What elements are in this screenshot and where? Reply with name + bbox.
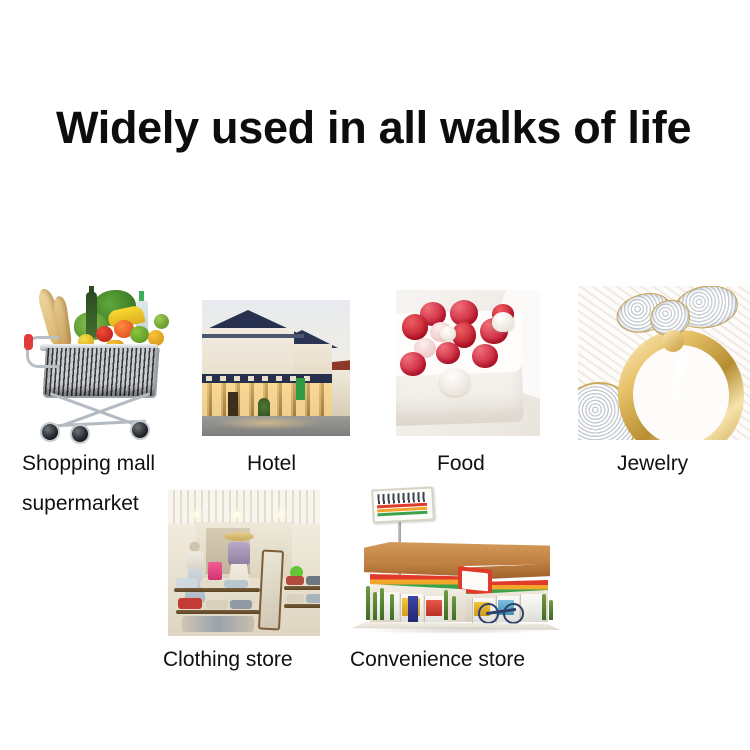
caption-convenience-store: Convenience store	[350, 640, 525, 680]
cart-wheel	[70, 424, 90, 444]
strawberry-icon	[402, 314, 428, 340]
folded-clothes	[206, 600, 228, 609]
roof-edge	[202, 334, 304, 338]
image-hotel	[202, 300, 350, 436]
broccoli-icon	[154, 314, 169, 329]
caption-clothing-store: Clothing store	[163, 640, 293, 680]
pink-promo-sign	[208, 562, 222, 580]
caption-food: Food	[437, 444, 485, 484]
raspberry-icon	[436, 342, 460, 364]
folded-clothes	[230, 600, 252, 609]
red-garment	[178, 598, 202, 609]
folded-clothes	[176, 578, 198, 588]
green-apple-icon	[130, 326, 149, 343]
bow-gold-knot	[662, 330, 684, 352]
page-title: Widely used in all walks of life	[56, 104, 716, 151]
shoe-display	[286, 594, 304, 603]
display-table	[176, 610, 260, 614]
display-shelf	[284, 586, 320, 590]
plant	[390, 594, 394, 620]
ground-shadow	[364, 627, 550, 634]
ceiling-light	[194, 512, 199, 517]
green-street-sign	[296, 378, 305, 400]
shoe-display	[306, 594, 320, 603]
image-shopping-mall-supermarket	[18, 286, 178, 444]
light-reflection	[212, 416, 322, 430]
interior-shelf	[426, 600, 442, 616]
cream-rosette	[492, 312, 514, 332]
image-jewelry	[578, 286, 750, 440]
cream-dollop	[440, 326, 456, 341]
plant	[366, 586, 370, 620]
ceiling-light	[234, 512, 239, 517]
cream-rosette	[440, 368, 470, 396]
plant	[380, 588, 384, 620]
cart-wheel	[130, 420, 150, 440]
folded-clothes	[224, 580, 248, 588]
cart-wheel	[40, 422, 60, 442]
plant	[444, 590, 448, 620]
bicycle-icon	[478, 602, 524, 624]
mannequin-with-hat	[226, 530, 252, 606]
plant	[373, 592, 377, 620]
straw-hat-icon	[224, 532, 254, 541]
image-food	[396, 290, 540, 436]
mannequin	[185, 542, 206, 603]
plant	[542, 594, 546, 620]
folded-clothes	[200, 580, 220, 588]
image-clothing-store	[168, 490, 320, 636]
cart-basket	[42, 348, 159, 398]
cart-handle-grip	[24, 334, 33, 350]
display-table	[174, 588, 260, 592]
blue-storefront-unit	[408, 596, 418, 622]
shoe-display	[286, 576, 304, 585]
lower-shelf-goods	[182, 616, 254, 632]
store-pole-sign	[371, 486, 435, 523]
image-convenience-store	[346, 484, 566, 636]
plant	[452, 596, 456, 620]
plant	[549, 600, 553, 620]
standing-mirror	[258, 549, 284, 630]
display-shelf	[284, 604, 320, 608]
facade-cornice	[202, 374, 332, 383]
marketing-slide: Widely used in all walks of life	[0, 0, 750, 750]
ceiling-slats	[168, 490, 320, 524]
caption-jewelry: Jewelry	[617, 444, 688, 484]
ceiling-light	[278, 512, 283, 517]
caption-hotel: Hotel	[247, 444, 296, 484]
raspberry-icon	[400, 352, 426, 376]
raspberry-icon	[472, 344, 498, 368]
shoe-display	[306, 576, 320, 585]
